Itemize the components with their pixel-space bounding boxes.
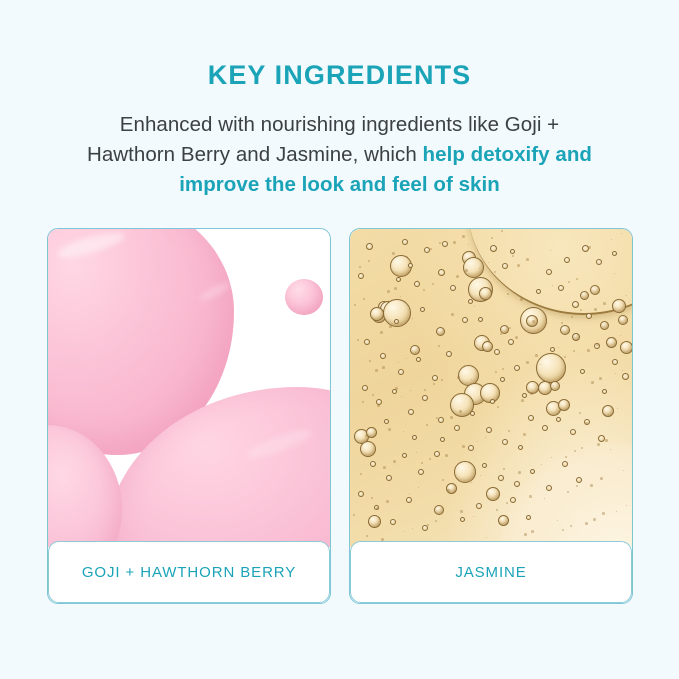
oil-bubble-small [438,269,445,276]
oil-bubble [479,287,492,300]
ingredient-cards-row: GOJI + HAWTHORN BERRY JASMINE [47,228,633,604]
oil-speck [609,311,610,312]
oil-speck [479,268,480,269]
oil-bubble [410,345,420,355]
oil-speck [521,399,524,402]
oil-speck [482,403,483,404]
oil-speck [387,290,390,293]
oil-bubble-small [598,435,605,442]
oil-speck [509,327,511,329]
pink-blob-small-topright [285,279,323,315]
oil-bubble-small [366,243,373,250]
oil-speck [365,435,367,437]
oil-speck [360,473,362,475]
oil-speck [456,275,459,278]
oil-speck [531,530,534,533]
oil-speck [377,404,380,407]
oil-speck [394,287,397,290]
oil-speck [368,260,370,262]
oil-speck [585,422,588,425]
oil-speck [432,283,434,285]
oil-speck [486,537,487,538]
oil-bubble-small [562,461,568,467]
oil-bubble-small [414,281,420,287]
oil-speck [488,262,489,263]
oil-bubble-small [500,377,505,382]
oil-bubble [580,291,589,300]
oil-speck [540,364,541,365]
oil-speck [393,460,396,463]
oil-bubble-small [462,317,468,323]
oil-bubble-small [412,435,417,440]
oil-speck [357,339,359,341]
oil-bubble-small [468,299,473,304]
oil-bubble-small [384,419,389,424]
oil-speck [597,443,600,446]
oil-bubble [620,341,632,354]
oil-speck [497,406,499,408]
oil-speck [407,256,408,257]
oil-bubble [366,427,377,438]
oil-speck [435,520,437,522]
oil-speck [495,371,497,373]
oil-speck [550,250,551,251]
oil-speck [590,484,593,487]
oil-speck [561,322,563,324]
oil-speck [600,477,603,480]
oil-speck [430,248,432,250]
oil-speck [426,424,428,426]
oil-speck [433,383,435,385]
oil-speck [382,366,385,369]
oil-speck [362,401,364,403]
oil-speck [574,450,576,452]
oil-bubble [606,337,617,348]
oil-bubble-small [612,359,618,365]
oil-bubble-small [558,285,564,291]
oil-speck [503,468,505,470]
oil-bubble [536,353,566,383]
oil-bubble-small [422,395,428,401]
gold-light-region-bottomright [500,443,632,547]
oil-bubble-small [358,491,364,497]
oil-speck [529,495,532,498]
oil-bubble-small [518,445,523,450]
oil-speck [404,531,405,532]
oil-speck [383,466,386,469]
oil-bubble-small [396,277,401,282]
oil-bubble-small [482,463,487,468]
oil-bubble-small [364,339,370,345]
oil-speck [483,300,484,301]
oil-bubble-small [386,475,392,481]
oil-bubble-small [450,285,456,291]
oil-speck [515,336,518,339]
ingredients-panel: KEY INGREDIENTS Enhanced with nourishing… [0,0,679,679]
oil-bubble-small [572,301,579,308]
oil-bubble [612,299,626,313]
oil-bubble-small [362,385,368,391]
oil-speck [621,233,622,234]
oil-speck [623,470,624,471]
oil-bubble-small [454,425,460,431]
oil-bubble [482,341,493,352]
oil-speck [622,370,623,371]
oil-speck [401,396,402,397]
oil-speck [359,266,361,268]
oil-speck [506,502,508,504]
oil-bubble-small [392,389,397,394]
oil-speck [614,273,615,274]
oil-speck [558,347,559,348]
oil-speck [544,498,545,499]
oil-bubble-small [398,369,404,375]
oil-speck [447,489,450,492]
oil-speck [546,426,547,427]
oil-speck [403,431,404,432]
oil-bubble-small [542,425,548,431]
oil-speck [494,271,496,273]
oil-speck [556,419,557,420]
page-title: KEY INGREDIENTS [0,58,679,92]
oil-speck [500,333,502,335]
oil-bubble-small [510,249,515,254]
oil-speck [427,524,429,526]
oil-bubble-small [418,469,424,475]
oil-speck [438,345,440,347]
oil-bubble-small [586,313,592,319]
oil-speck [471,482,472,483]
heading-block: KEY INGREDIENTS Enhanced with nourishing… [0,58,679,200]
oil-speck [587,349,590,352]
oil-speck [459,410,462,413]
oil-bubble [572,333,580,341]
oil-speck [588,246,591,249]
oil-speck [398,362,399,363]
oil-bubble-small [370,461,376,467]
oil-speck [593,518,596,521]
oil-speck [417,280,418,281]
oil-speck [570,525,572,527]
oil-speck [581,447,583,449]
oil-speck [418,487,419,488]
oil-speck [451,313,454,316]
oil-bubble-small [402,239,408,245]
oil-speck [610,449,611,450]
card-label-text: GOJI + HAWTHORN BERRY [82,564,296,581]
oil-speck [565,456,567,458]
oil-speck [353,514,355,516]
oil-speck [453,241,456,244]
oil-speck [386,500,389,503]
oil-speck [410,390,411,391]
oil-speck [608,414,609,415]
oil-speck [416,452,417,453]
oil-speck [445,454,448,457]
oil-bubble [590,285,600,295]
oil-speck [392,252,395,255]
oil-speck [474,306,475,307]
oil-speck [491,237,493,239]
oil-speck [412,318,413,319]
oil-bubble [463,257,484,278]
oil-speck [350,229,351,230]
oil-bubble-small [514,365,520,371]
oil-speck [602,512,605,515]
oil-speck [594,308,597,311]
oil-bubble-small [438,417,444,423]
oil-speck [532,320,535,323]
oil-speck [369,360,371,362]
card-label-goji-hawthorn-berry: GOJI + HAWTHORN BERRY [48,541,330,603]
card-label-jasmine: JASMINE [350,541,632,603]
oil-bubble-small [546,485,552,491]
oil-bubble [618,315,628,325]
oil-speck [406,358,407,359]
oil-speck [439,242,441,244]
oil-bubble-small [402,453,407,458]
oil-speck [468,244,469,245]
oil-speck [520,298,523,301]
oil-bubble-small [526,515,531,520]
oil-speck [501,230,503,232]
oil-bubble-small [478,317,483,322]
oil-speck [573,350,575,352]
oil-bubble-small [546,269,552,275]
oil-speck [562,529,564,531]
oil-speck [436,417,438,419]
pink-highlight-streak-3 [239,315,330,398]
oil-speck [480,475,481,476]
oil-speck [526,258,529,261]
ingredient-card-goji-hawthorn-berry[interactable]: GOJI + HAWTHORN BERRY [47,228,331,604]
oil-bubble [550,381,560,391]
oil-bubble-small [494,349,500,355]
oil-speck [553,385,554,386]
oil-speck [517,264,520,267]
oil-bubble-small [390,519,396,525]
oil-speck [415,352,416,353]
oil-bubble [600,321,609,330]
oil-bubble-small [612,251,617,256]
oil-speck [580,309,582,311]
oil-speck [526,361,529,364]
oil-speck [465,269,468,272]
oil-bubble-small [490,245,497,252]
oil-speck [507,293,509,295]
oil-speck [409,493,410,494]
oil-speck [508,430,510,432]
oil-speck [524,533,527,536]
oil-speck [564,356,566,358]
oil-speck [376,507,379,510]
oil-speck [551,457,552,458]
oil-speck [603,302,606,305]
oil-speck [615,373,616,374]
oil-speck [530,392,533,395]
oil-bubble [454,461,476,483]
oil-bubble-small [528,415,534,421]
oil-speck [421,462,423,464]
oil-bubble-small [408,409,414,415]
oil-speck [502,368,504,370]
oil-speck [626,505,627,506]
oil-speck [485,437,486,438]
oil-bubble-small [596,259,602,265]
oil-speck [512,255,514,257]
pink-oil-droplets-image [48,229,330,547]
oil-bubble [602,405,614,417]
oil-speck [579,412,581,414]
oil-bubble-small [508,339,514,345]
oil-bubble-small [394,319,399,324]
oil-speck [496,509,498,511]
oil-bubble-small [580,369,585,374]
oil-speck [424,389,426,391]
oil-speck [535,354,538,357]
oil-bubble [370,307,384,321]
oil-bubble-small [416,357,421,362]
oil-speck [363,298,365,300]
oil-speck [462,235,465,238]
oil-bubble-small [420,307,425,312]
oil-bubble [498,515,509,526]
oil-bubble-small [470,411,475,416]
oil-bubble-small [442,241,448,247]
oil-bubble-small [408,263,413,268]
oil-bubble-small [570,429,576,435]
oil-speck [450,416,453,419]
oil-bubble-small [602,389,607,394]
oil-bubble-small [490,399,495,404]
oil-speck [571,316,573,318]
oil-bubble-small [380,353,386,359]
golden-oil-bubbles-image [350,229,632,547]
oil-speck [605,439,608,442]
oil-speck [460,510,463,513]
oil-speck [473,516,474,517]
oil-speck [372,394,374,396]
oil-speck [599,377,602,380]
oil-bubble-small [564,257,570,263]
pink-art-canvas [48,229,330,547]
oil-speck [552,285,553,286]
oil-speck [457,376,460,379]
page-subtitle: Enhanced with nourishing ingredients lik… [75,110,605,200]
oil-bubble-small [550,347,555,352]
oil-bubble-small [432,375,438,381]
oil-speck [375,369,378,372]
oil-speck [477,441,478,442]
oil-bubble-small [510,497,516,503]
oil-speck [395,387,398,390]
oil-bubble-small [514,481,520,487]
oil-bubble-small [502,263,508,269]
oil-speck [626,295,627,296]
oil-speck [471,379,472,380]
oil-bubble-small [530,469,535,474]
oil-speck [518,471,521,474]
card-media-goji-hawthorn-berry [48,229,330,547]
oil-speck [576,485,578,487]
oil-bubble-small [422,525,428,531]
gold-art-canvas [350,229,632,547]
oil-bubble [436,327,445,336]
oil-speck [576,278,578,280]
oil-bubble-small [502,439,508,445]
oil-speck [620,335,621,336]
card-media-jasmine [350,229,632,547]
oil-speck [568,281,570,283]
oil-speck [567,491,569,493]
oil-bubble-small [446,351,452,357]
oil-speck [591,381,594,384]
oil-bubble-small [536,289,541,294]
oil-bubble [560,325,570,335]
oil-bubble [434,505,444,515]
oil-bubble-small [476,503,482,509]
oil-bubble [360,441,376,457]
oil-speck [617,408,618,409]
oil-speck [476,341,477,342]
oil-speck [541,464,542,465]
oil-speck [429,458,431,460]
oil-speck [412,528,413,529]
ingredient-card-jasmine[interactable]: JASMINE [349,228,633,604]
oil-bubble [558,399,570,411]
oil-speck [380,331,383,334]
oil-speck [557,520,558,521]
oil-bubble-small [498,475,504,481]
card-label-text: JASMINE [455,564,526,581]
oil-speck [585,522,588,525]
oil-bubble-small [460,517,465,522]
oil-speck [441,379,443,381]
oil-bubble-small [434,451,440,457]
oil-speck [423,289,425,291]
oil-speck [389,325,392,328]
oil-speck [547,323,548,324]
oil-bubble-small [522,393,527,398]
oil-bubble-small [486,427,492,433]
oil-speck [388,428,391,431]
oil-bubble [486,487,500,501]
oil-speck [538,329,539,330]
oil-speck [616,511,617,512]
oil-speck [366,535,368,537]
oil-speck [462,445,465,448]
oil-bubble-small [440,437,445,442]
oil-speck [354,304,356,306]
oil-speck [596,343,599,346]
oil-speck [523,433,526,436]
oil-speck [400,296,401,297]
oil-speck [611,239,612,240]
oil-speck [442,479,444,481]
oil-bubble-small [622,373,629,380]
oil-bubble [368,515,381,528]
oil-speck [371,497,373,499]
oil-bubble-small [358,273,364,279]
oil-bubble-small [468,445,474,451]
oil-bubble-small [406,497,412,503]
oil-bubble-small [576,477,582,483]
